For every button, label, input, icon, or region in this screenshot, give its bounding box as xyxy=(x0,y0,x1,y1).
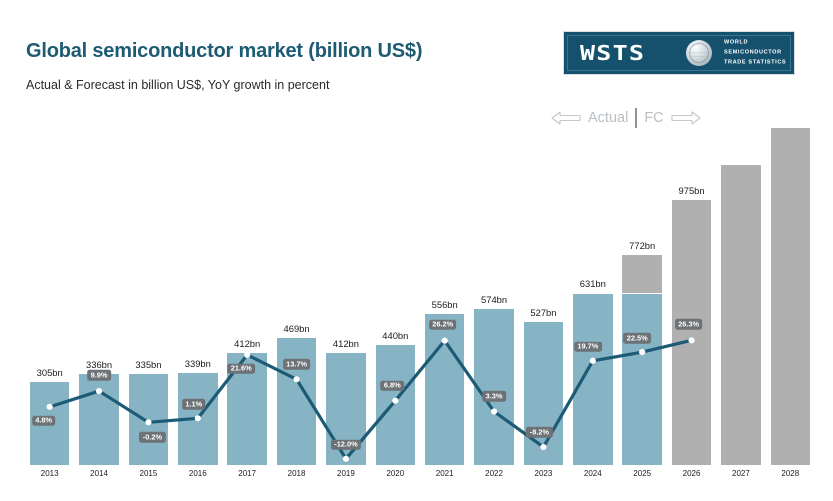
bar-value-label-2017: 412bn xyxy=(223,338,272,349)
bar-value-label-2016: 339bn xyxy=(173,358,222,369)
bar-2024 xyxy=(573,294,613,466)
x-axis-tick-2025: 2025 xyxy=(618,469,667,478)
bar-value-label-2022: 574bn xyxy=(469,294,518,305)
bar-value-label-2013: 305bn xyxy=(25,367,74,378)
bar-segment-actual xyxy=(79,374,119,465)
growth-value-label-2025: 22.5% xyxy=(623,333,651,344)
bar-value-label-2015: 335bn xyxy=(124,359,173,370)
logo-wordmark: WSTS xyxy=(580,41,645,65)
x-axis: 2013201420152016201720182019202020212022… xyxy=(0,465,833,491)
bar-2016 xyxy=(178,373,218,465)
bar-segment-actual xyxy=(474,309,514,465)
growth-value-label-2024: 19.7% xyxy=(574,341,602,352)
x-axis-tick-2028: 2028 xyxy=(766,469,815,478)
chart-page: Global semiconductor market (billion US$… xyxy=(0,0,833,501)
bar-value-label-2019: 412bn xyxy=(321,338,370,349)
bar-segment-actual xyxy=(524,322,564,465)
x-axis-tick-2014: 2014 xyxy=(74,469,123,478)
bar-segment-forecast xyxy=(672,200,712,465)
bar-2027 xyxy=(721,165,761,465)
x-axis-tick-2013: 2013 xyxy=(25,469,74,478)
bar-segment-actual xyxy=(425,314,465,465)
bar-segment-forecast xyxy=(622,255,662,293)
bar-value-label-2021: 556bn xyxy=(420,299,469,310)
bar-2020 xyxy=(376,345,416,465)
growth-value-label-2016: 1.1% xyxy=(182,399,206,410)
growth-value-label-2013: 4.8% xyxy=(32,416,56,427)
bar-segment-forecast xyxy=(771,128,811,465)
bar-value-label-2024: 631bn xyxy=(568,278,617,289)
bar-2018 xyxy=(277,338,317,465)
wsts-logo: WSTS WORLD SEMICONDUCTOR TRADE STATISTIC… xyxy=(563,31,795,75)
plot-area: 305bn336bn335bn339bn412bn469bn412bn440bn… xyxy=(0,100,833,465)
x-axis-tick-2021: 2021 xyxy=(420,469,469,478)
x-axis-tick-2016: 2016 xyxy=(173,469,222,478)
growth-value-label-2026: 26.3% xyxy=(675,319,703,330)
bar-segment-actual xyxy=(376,345,416,465)
bar-2021 xyxy=(425,314,465,465)
growth-value-label-2023: -8.2% xyxy=(526,427,552,438)
bar-segment-actual xyxy=(277,338,317,465)
bar-segment-actual xyxy=(573,294,613,466)
bar-2015 xyxy=(129,374,169,465)
x-axis-tick-2024: 2024 xyxy=(568,469,617,478)
logo-tagline-line2: SEMICONDUCTOR xyxy=(724,48,786,58)
x-axis-tick-2022: 2022 xyxy=(469,469,518,478)
bar-group: 305bn336bn335bn339bn412bn469bn412bn440bn… xyxy=(0,100,833,465)
bar-value-label-2026: 975bn xyxy=(667,185,716,196)
x-axis-tick-2017: 2017 xyxy=(223,469,272,478)
x-axis-tick-2015: 2015 xyxy=(124,469,173,478)
growth-value-label-2014: 9.9% xyxy=(87,370,111,381)
growth-value-label-2017: 21.6% xyxy=(227,364,255,375)
x-axis-tick-2020: 2020 xyxy=(371,469,420,478)
bar-value-label-2023: 527bn xyxy=(519,307,568,318)
growth-value-label-2019: -12.0% xyxy=(331,440,361,451)
bar-2022 xyxy=(474,309,514,465)
bar-2023 xyxy=(524,322,564,465)
x-axis-tick-2026: 2026 xyxy=(667,469,716,478)
bar-2025 xyxy=(622,255,662,465)
page-subtitle: Actual & Forecast in billion US$, YoY gr… xyxy=(26,78,329,92)
globe-icon xyxy=(686,40,712,66)
bar-2028 xyxy=(771,128,811,465)
bar-value-label-2018: 469bn xyxy=(272,323,321,334)
page-title: Global semiconductor market (billion US$… xyxy=(26,40,422,63)
x-axis-tick-2019: 2019 xyxy=(321,469,370,478)
growth-value-label-2015: -0.2% xyxy=(139,432,165,443)
logo-tagline: WORLD SEMICONDUCTOR TRADE STATISTICS xyxy=(724,38,786,67)
x-axis-tick-2018: 2018 xyxy=(272,469,321,478)
bar-segment-actual xyxy=(129,374,169,465)
growth-value-label-2021: 26.2% xyxy=(429,319,457,330)
bar-segment-actual xyxy=(622,294,662,466)
bar-value-label-2020: 440bn xyxy=(371,330,420,341)
bar-2026 xyxy=(672,200,712,465)
bar-value-label-2025: 772bn xyxy=(618,240,667,251)
growth-value-label-2020: 6.8% xyxy=(380,380,404,391)
bar-value-label-2014: 336bn xyxy=(74,359,123,370)
logo-tagline-line1: WORLD xyxy=(724,38,786,48)
logo-tagline-line3: TRADE STATISTICS xyxy=(724,58,786,68)
bar-2014 xyxy=(79,374,119,465)
growth-value-label-2018: 13.7% xyxy=(283,359,311,370)
growth-value-label-2022: 3.3% xyxy=(482,391,506,402)
x-axis-tick-2027: 2027 xyxy=(716,469,765,478)
x-axis-tick-2023: 2023 xyxy=(519,469,568,478)
bar-segment-actual xyxy=(178,373,218,465)
bar-segment-forecast xyxy=(721,165,761,465)
logo-frame: WSTS WORLD SEMICONDUCTOR TRADE STATISTIC… xyxy=(567,35,791,71)
